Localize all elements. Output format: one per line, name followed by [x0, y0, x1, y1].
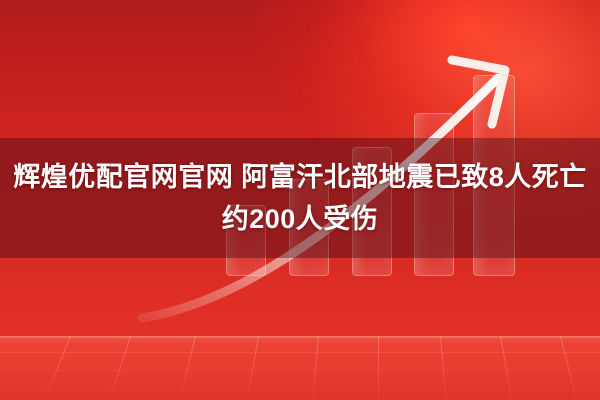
floor-perspective-line [560, 336, 576, 398]
floor-horizon-line [0, 352, 600, 353]
news-banner: 辉煌优配官网官网 阿富汗北部地震已致8人死亡约200人受伤 [0, 0, 600, 400]
headline-text: 辉煌优配官网官网 阿富汗北部地震已致8人死亡约200人受伤 [0, 138, 600, 258]
stage-floor [0, 336, 600, 400]
floor-horizon-line [0, 370, 600, 371]
floor-perspective-line [180, 336, 196, 398]
floor-perspective-line [110, 336, 131, 397]
floor-perspective-line [378, 336, 379, 400]
floor-perspective-line [46, 336, 71, 396]
